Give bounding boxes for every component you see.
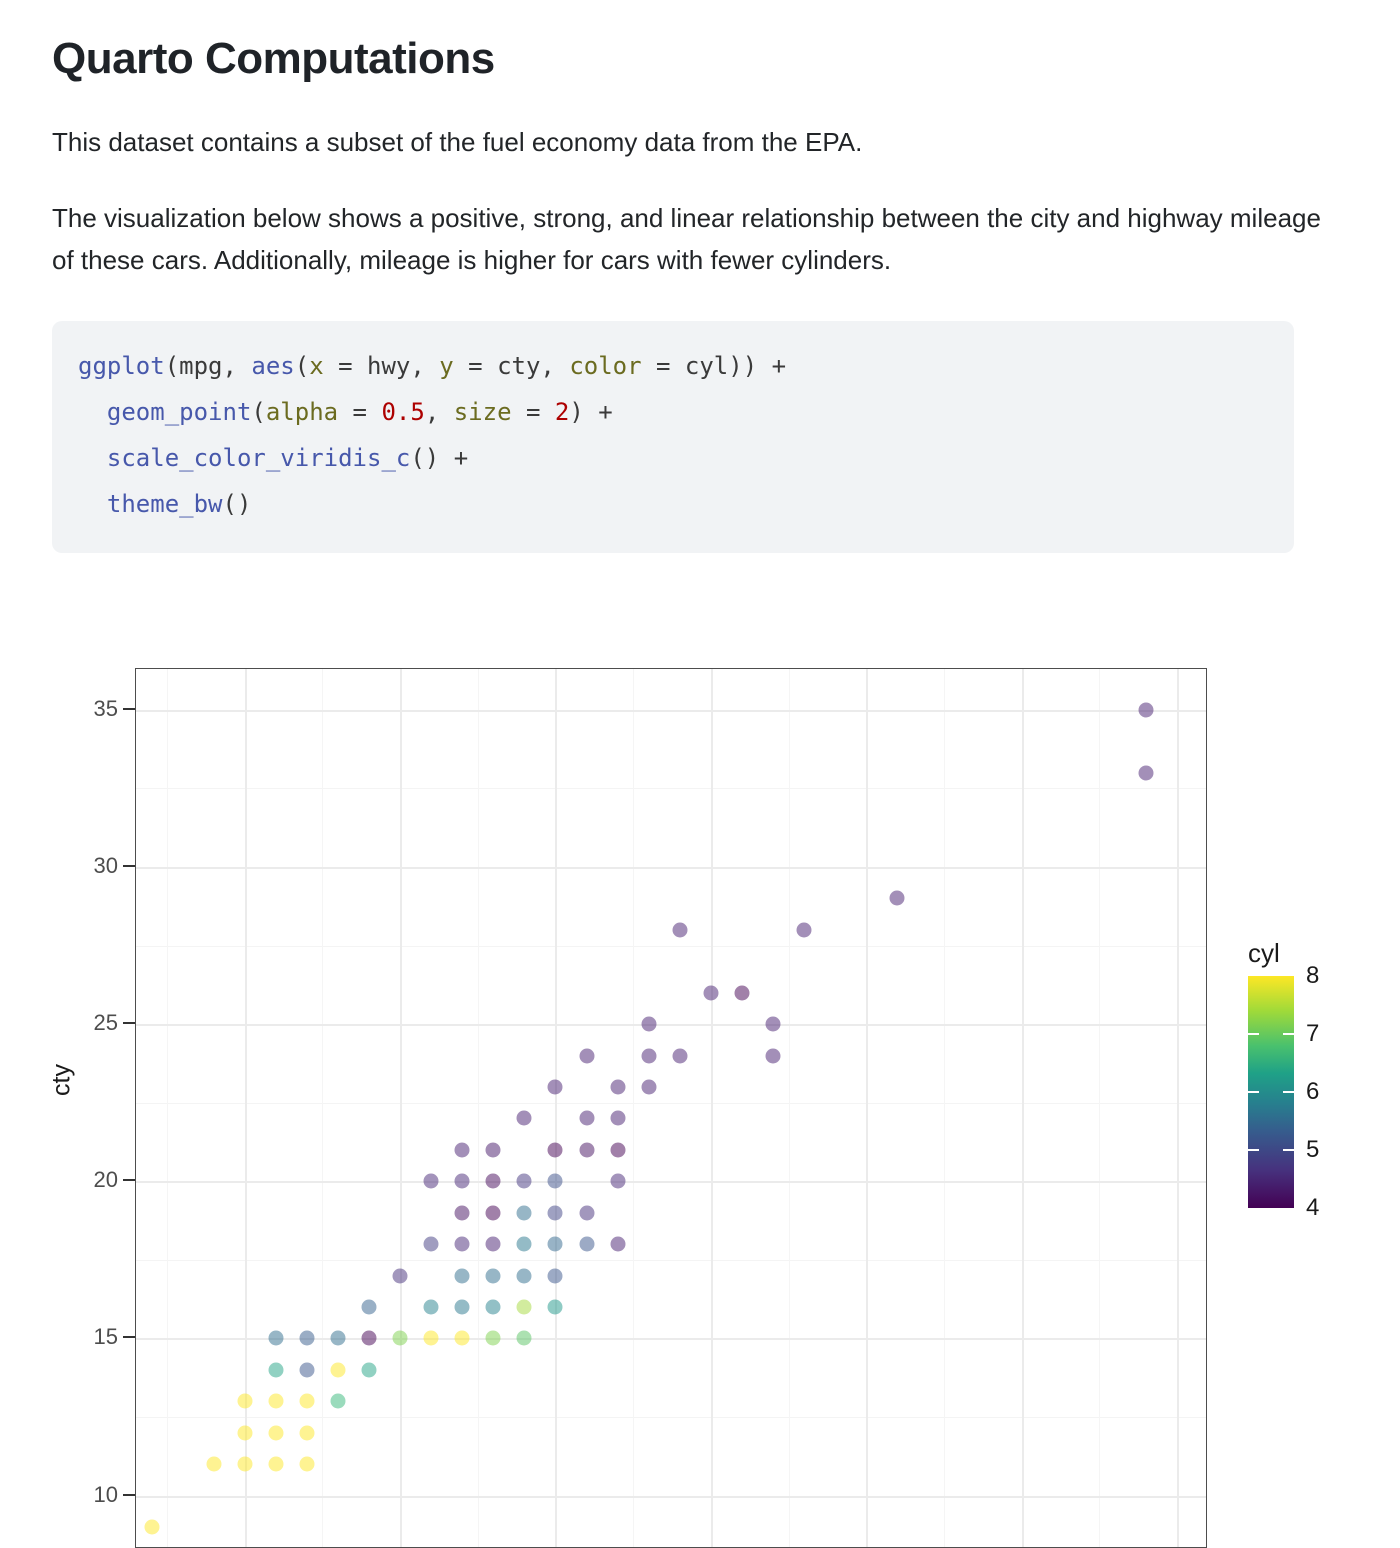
gridline-minor-vertical <box>478 669 479 1547</box>
y-axis-tick-mark <box>123 1022 135 1024</box>
legend-tick-mark <box>1248 1091 1259 1093</box>
data-point <box>703 985 718 1000</box>
gridline-major-vertical <box>400 669 402 1547</box>
legend: cyl 87654 <box>1248 940 1388 1208</box>
data-point <box>455 1142 470 1157</box>
gridline-major-horizontal <box>136 867 1206 869</box>
data-point <box>237 1425 252 1440</box>
data-point <box>610 1142 625 1157</box>
data-point <box>1138 702 1153 717</box>
y-axis-tick-label: 10 <box>94 1482 118 1508</box>
data-point <box>330 1331 345 1346</box>
data-point <box>237 1457 252 1472</box>
code-token: alpha <box>266 398 338 426</box>
legend-tick-label: 5 <box>1306 1136 1319 1164</box>
y-axis-tick-label: 20 <box>94 1167 118 1193</box>
data-point <box>486 1331 501 1346</box>
data-point <box>424 1237 439 1252</box>
data-point <box>641 1080 656 1095</box>
y-axis-tick-mark <box>123 865 135 867</box>
data-point <box>299 1425 314 1440</box>
data-point <box>672 922 687 937</box>
data-point <box>579 1205 594 1220</box>
scatter-plot-figure: cty 101520253035 cyl 87654 <box>0 640 1400 1540</box>
data-point <box>455 1174 470 1189</box>
y-axis-tick-label: 35 <box>94 696 118 722</box>
data-point <box>455 1237 470 1252</box>
legend-colorbar-wrap: 87654 <box>1248 976 1294 1208</box>
legend-tick-label: 6 <box>1306 1078 1319 1106</box>
code-block: ggplot(mpg, aes(x = hwy, y = cty, color … <box>52 321 1294 553</box>
gridline-major-vertical <box>866 669 868 1547</box>
data-point <box>424 1331 439 1346</box>
page-title: Quarto Computations <box>52 34 1348 85</box>
data-point <box>890 891 905 906</box>
code-token: 2 <box>555 398 569 426</box>
gridline-minor-horizontal <box>136 788 1206 789</box>
code-token: (mpg, <box>165 352 252 380</box>
code-token: color <box>569 352 641 380</box>
legend-tick-mark <box>1248 1033 1259 1035</box>
data-point <box>486 1237 501 1252</box>
gridline-major-horizontal <box>136 1024 1206 1026</box>
code-token: ( <box>251 398 265 426</box>
gridline-major-vertical <box>1022 669 1024 1547</box>
gridline-minor-vertical <box>322 669 323 1547</box>
gridline-major-horizontal <box>136 1181 1206 1183</box>
data-point <box>641 1017 656 1032</box>
data-point <box>299 1331 314 1346</box>
data-point <box>268 1425 283 1440</box>
data-point <box>268 1331 283 1346</box>
data-point <box>734 985 749 1000</box>
data-point <box>610 1174 625 1189</box>
y-axis-tick-mark <box>123 1336 135 1338</box>
data-point <box>548 1205 563 1220</box>
data-point <box>672 1048 687 1063</box>
legend-tick-mark <box>1283 1091 1294 1093</box>
legend-tick-mark <box>1283 1033 1294 1035</box>
gridline-major-horizontal <box>136 710 1206 712</box>
data-point <box>330 1362 345 1377</box>
data-point <box>548 1174 563 1189</box>
gridline-major-vertical <box>711 669 713 1547</box>
code-source: ggplot(mpg, aes(x = hwy, y = cty, color … <box>78 343 1268 527</box>
data-point <box>144 1520 159 1535</box>
data-point <box>362 1362 377 1377</box>
data-point <box>455 1331 470 1346</box>
y-axis-tick-label: 25 <box>94 1010 118 1036</box>
y-axis-label: cty <box>48 1064 77 1096</box>
code-token <box>78 490 107 518</box>
gridline-major-vertical <box>1177 669 1179 1547</box>
data-point <box>610 1237 625 1252</box>
code-token: = cty, <box>454 352 570 380</box>
gridline-major-horizontal <box>136 1338 1206 1340</box>
data-point <box>268 1362 283 1377</box>
data-point <box>517 1331 532 1346</box>
data-point <box>641 1048 656 1063</box>
code-token: ggplot <box>78 352 165 380</box>
data-point <box>455 1205 470 1220</box>
gridline-major-horizontal <box>136 1496 1206 1498</box>
plot-panel <box>135 668 1207 1548</box>
gridline-minor-horizontal <box>136 1260 1206 1261</box>
gridline-minor-vertical <box>167 669 168 1547</box>
data-point <box>797 922 812 937</box>
code-token: theme_bw <box>107 490 223 518</box>
intro-paragraph: This dataset contains a subset of the fu… <box>52 121 1348 163</box>
gridline-minor-horizontal <box>136 946 1206 947</box>
data-point <box>765 1048 780 1063</box>
data-point <box>455 1300 470 1315</box>
data-point <box>579 1048 594 1063</box>
data-point <box>765 1017 780 1032</box>
code-token: = <box>512 398 555 426</box>
data-point <box>517 1111 532 1126</box>
data-point <box>268 1394 283 1409</box>
data-point <box>362 1300 377 1315</box>
data-point <box>486 1205 501 1220</box>
data-point <box>517 1237 532 1252</box>
code-token: size <box>454 398 512 426</box>
data-point <box>486 1300 501 1315</box>
data-point <box>455 1268 470 1283</box>
y-axis-tick-mark <box>123 1494 135 1496</box>
code-token: aes <box>251 352 294 380</box>
code-token: ( <box>295 352 309 380</box>
code-token: , <box>425 398 454 426</box>
code-token: () + <box>410 444 468 472</box>
data-point <box>299 1362 314 1377</box>
data-point <box>330 1394 345 1409</box>
data-point <box>1138 765 1153 780</box>
legend-tick-label: 4 <box>1306 1194 1319 1222</box>
code-token: = <box>338 398 381 426</box>
description-paragraph: The visualization below shows a positive… <box>52 197 1348 281</box>
data-point <box>517 1268 532 1283</box>
data-point <box>393 1331 408 1346</box>
legend-tick-label: 8 <box>1306 962 1319 990</box>
code-token: y <box>439 352 453 380</box>
y-axis-tick-mark <box>123 708 135 710</box>
data-point <box>548 1237 563 1252</box>
gridline-major-vertical <box>555 669 557 1547</box>
data-point <box>548 1080 563 1095</box>
y-axis-tick-label: 30 <box>94 853 118 879</box>
y-axis-tick-mark <box>123 1179 135 1181</box>
code-token: = hwy, <box>324 352 440 380</box>
gridline-minor-vertical <box>789 669 790 1547</box>
data-point <box>299 1457 314 1472</box>
code-token: ) + <box>569 398 612 426</box>
code-token <box>78 444 107 472</box>
data-point <box>610 1111 625 1126</box>
data-point <box>579 1237 594 1252</box>
code-token: () <box>223 490 252 518</box>
data-point <box>517 1205 532 1220</box>
legend-tick-mark <box>1248 1149 1259 1151</box>
data-point <box>610 1080 625 1095</box>
code-token: = cyl)) + <box>642 352 787 380</box>
data-point <box>393 1268 408 1283</box>
code-token: x <box>309 352 323 380</box>
data-point <box>299 1394 314 1409</box>
y-axis-tick-label: 15 <box>94 1324 118 1350</box>
data-point <box>206 1457 221 1472</box>
data-point <box>579 1111 594 1126</box>
gridline-major-vertical <box>245 669 247 1547</box>
data-point <box>548 1142 563 1157</box>
data-point <box>237 1394 252 1409</box>
legend-tick-mark <box>1283 1149 1294 1151</box>
data-point <box>424 1300 439 1315</box>
data-point <box>486 1142 501 1157</box>
data-point <box>548 1268 563 1283</box>
data-point <box>362 1331 377 1346</box>
gridline-minor-horizontal <box>136 1103 1206 1104</box>
data-point <box>486 1174 501 1189</box>
gridline-minor-vertical <box>1099 669 1100 1547</box>
gridline-minor-vertical <box>633 669 634 1547</box>
gridline-minor-vertical <box>944 669 945 1547</box>
data-point <box>486 1268 501 1283</box>
legend-tick-label: 7 <box>1306 1020 1319 1048</box>
data-point <box>548 1300 563 1315</box>
code-token: 0.5 <box>381 398 424 426</box>
data-point <box>424 1174 439 1189</box>
data-point <box>517 1174 532 1189</box>
data-point <box>268 1457 283 1472</box>
page-root: Quarto Computations This dataset contain… <box>0 0 1400 1500</box>
code-token: geom_point <box>107 398 252 426</box>
data-point <box>579 1142 594 1157</box>
code-token <box>78 398 107 426</box>
code-token: scale_color_viridis_c <box>107 444 410 472</box>
document-body: Quarto Computations This dataset contain… <box>52 0 1348 553</box>
gridline-minor-horizontal <box>136 1417 1206 1418</box>
data-point <box>517 1300 532 1315</box>
